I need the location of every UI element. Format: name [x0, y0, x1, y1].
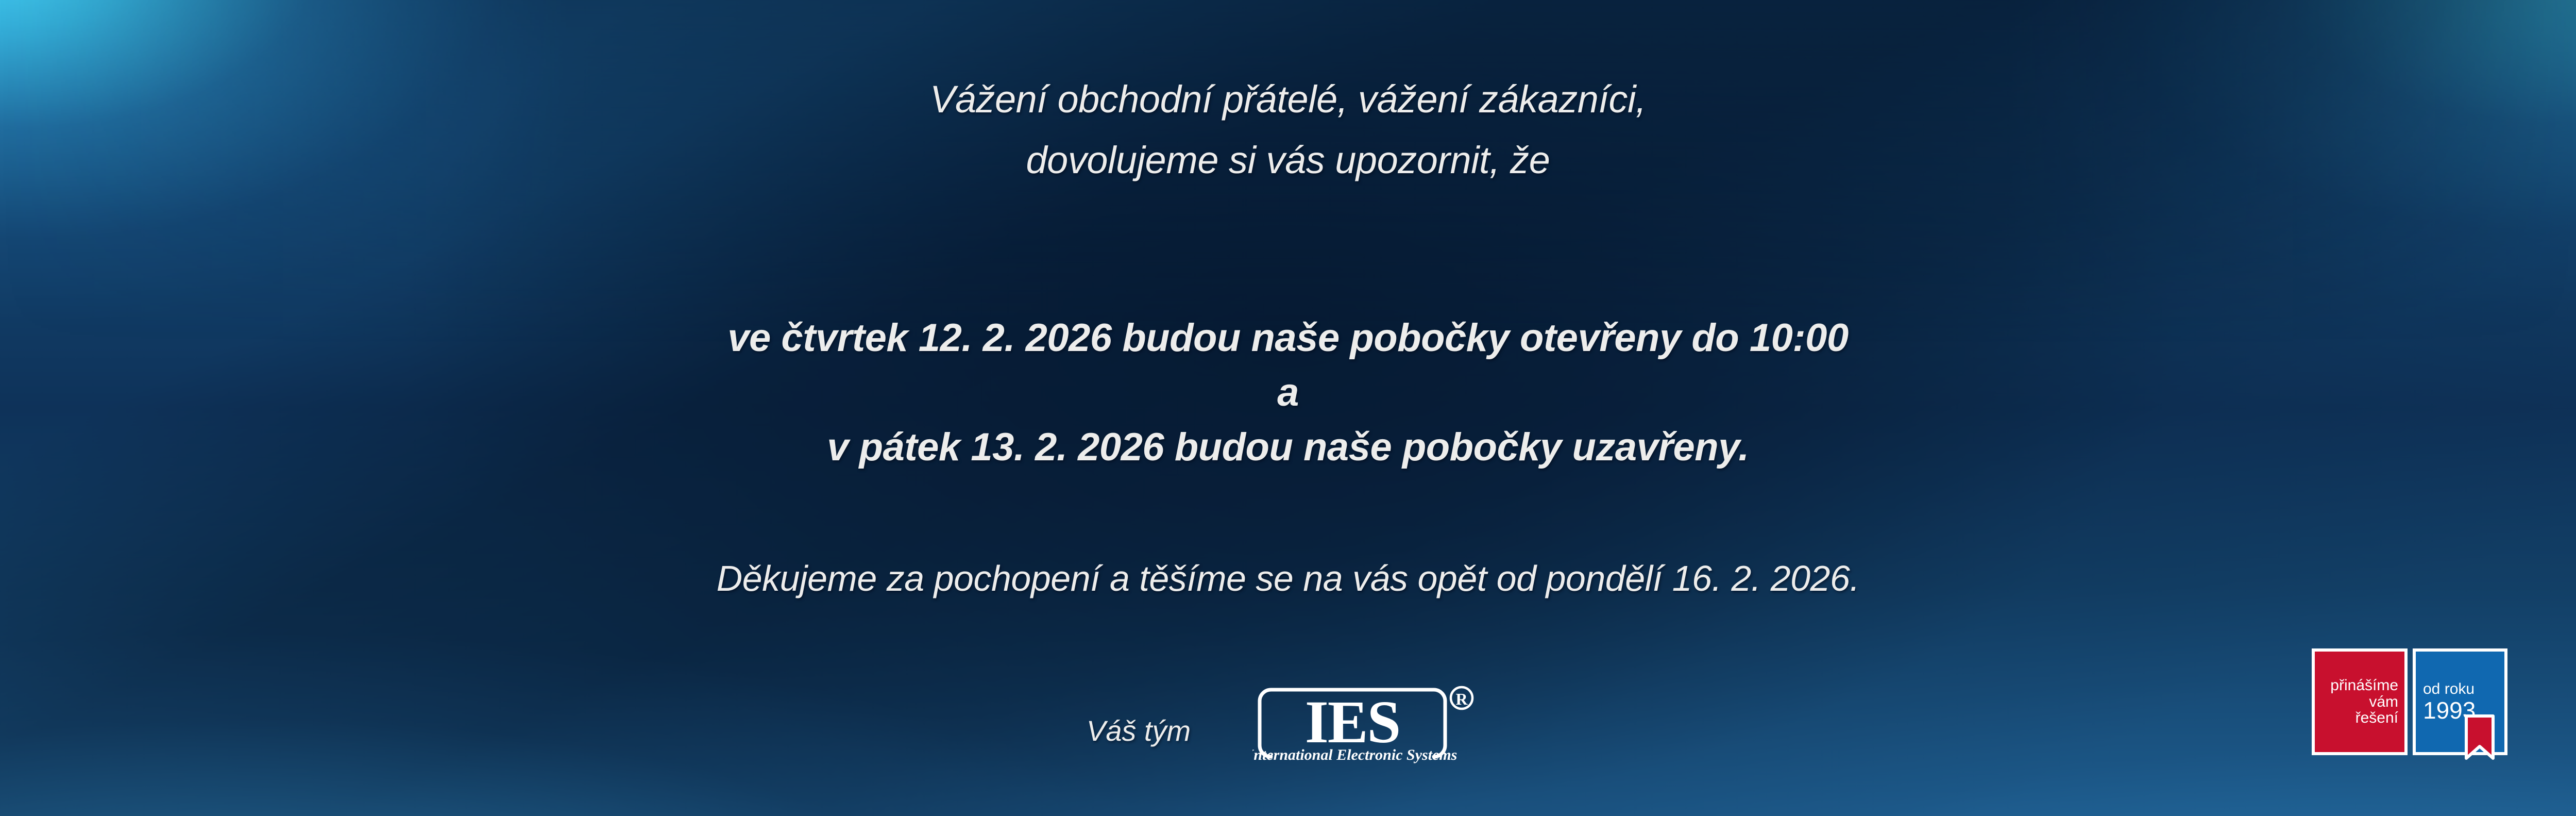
greeting-line-2: dovolujeme si vás upozornit, že	[0, 138, 2576, 182]
badge-tagline-line-3: řešení	[2355, 710, 2398, 726]
logo-wordmark-text: IES	[1305, 688, 1400, 756]
signature-row: Váš tým IES International Electronic Sys…	[0, 675, 2576, 778]
announcement-banner: Vážení obchodní přátelé, vážení zákazníc…	[0, 0, 2576, 816]
badge-tagline: přinášíme vám řešení	[2312, 648, 2408, 755]
badge-tagline-line-2: vám	[2369, 694, 2398, 710]
notice-thursday-line: ve čtvrtek 12. 2. 2026 budou naše pobočk…	[0, 315, 2576, 360]
signoff-text: Váš tým	[1087, 714, 1191, 747]
ies-logo: IES International Electronic Systems R	[1252, 682, 1489, 771]
badge-tagline-line-1: přinášíme	[2330, 677, 2398, 694]
logo-tagline-text: International Electronic Systems	[1252, 746, 1457, 763]
notice-conjunction: a	[0, 370, 2576, 415]
closing-line: Děkujeme za pochopení a těšíme se na vás…	[0, 558, 2576, 599]
greeting-line-1: Vážení obchodní přátelé, vážení zákazníc…	[0, 77, 2576, 121]
corner-badges: přinášíme vám řešení od roku 1993	[2312, 648, 2513, 759]
bookmark-ribbon-icon	[2464, 714, 2496, 760]
notice-friday-line: v pátek 13. 2. 2026 budou naše pobočky u…	[0, 425, 2576, 470]
badge-since-label: od roku	[2423, 681, 2475, 697]
registered-letter: R	[1456, 690, 1468, 708]
